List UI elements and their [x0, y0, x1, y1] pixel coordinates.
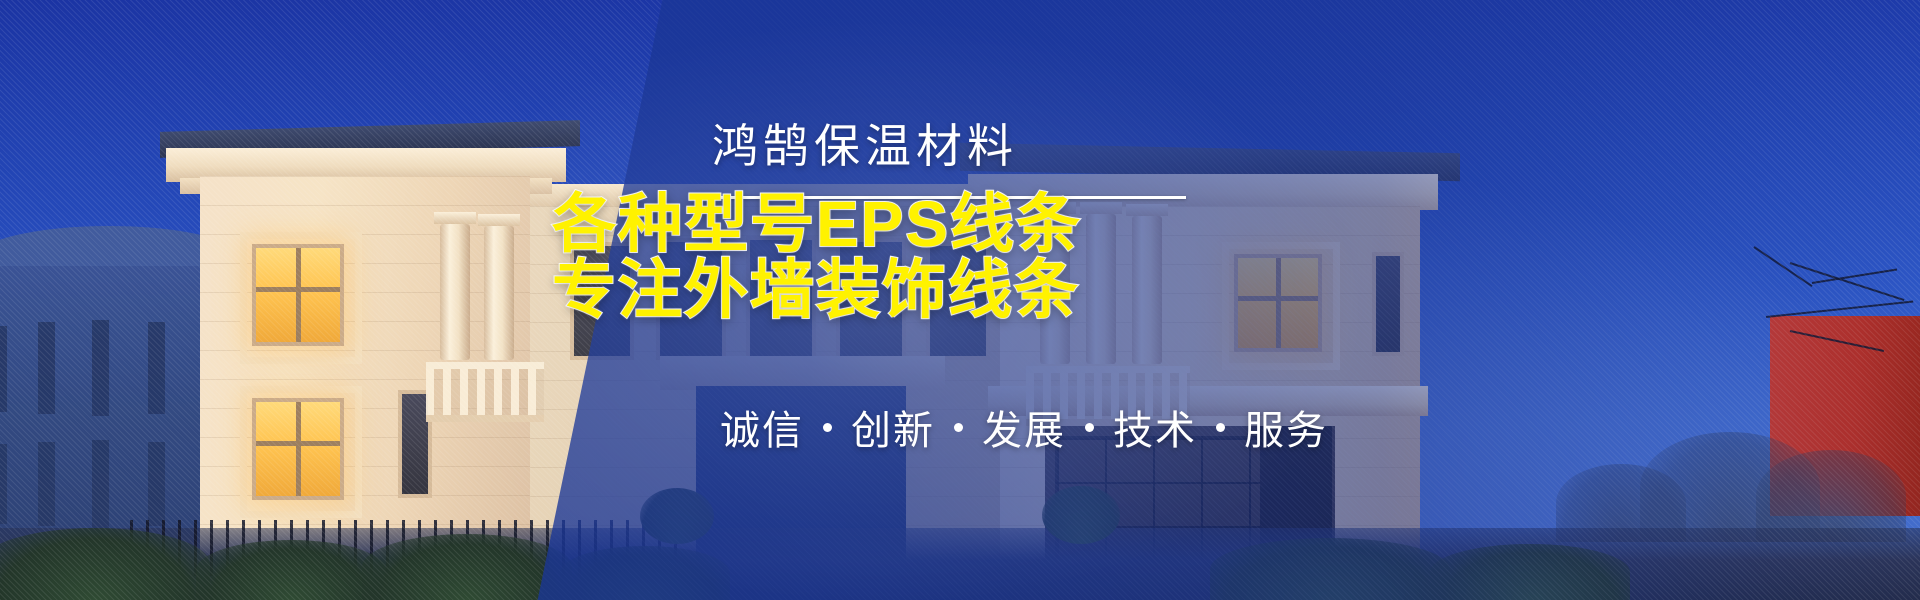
tagline-separator-dot: [1085, 423, 1094, 432]
tagline-word: 技术: [1111, 398, 1199, 456]
tagline-word: 诚信: [718, 398, 806, 456]
headline-line-2: 专注外墙装饰线条: [552, 258, 1080, 322]
tagline-separator-dot: [823, 423, 832, 432]
promo-banner: 鸿鹄保温材料 各种型号EPS线条 专注外墙装饰线条 诚信创新发展技术服务: [0, 0, 1920, 600]
tagline: 诚信创新发展技术服务: [718, 398, 1330, 456]
banner-text-block: 鸿鹄保温材料 各种型号EPS线条 专注外墙装饰线条 诚信创新发展技术服务: [0, 0, 1920, 600]
company-subtitle: 鸿鹄保温材料: [712, 110, 1018, 176]
tagline-separator-dot: [1216, 423, 1225, 432]
tagline-word: 服务: [1242, 398, 1330, 456]
tagline-word: 发展: [980, 398, 1068, 456]
tagline-word: 创新: [849, 398, 937, 456]
tagline-separator-dot: [954, 423, 963, 432]
headline-line-1: 各种型号EPS线条: [552, 192, 1082, 256]
